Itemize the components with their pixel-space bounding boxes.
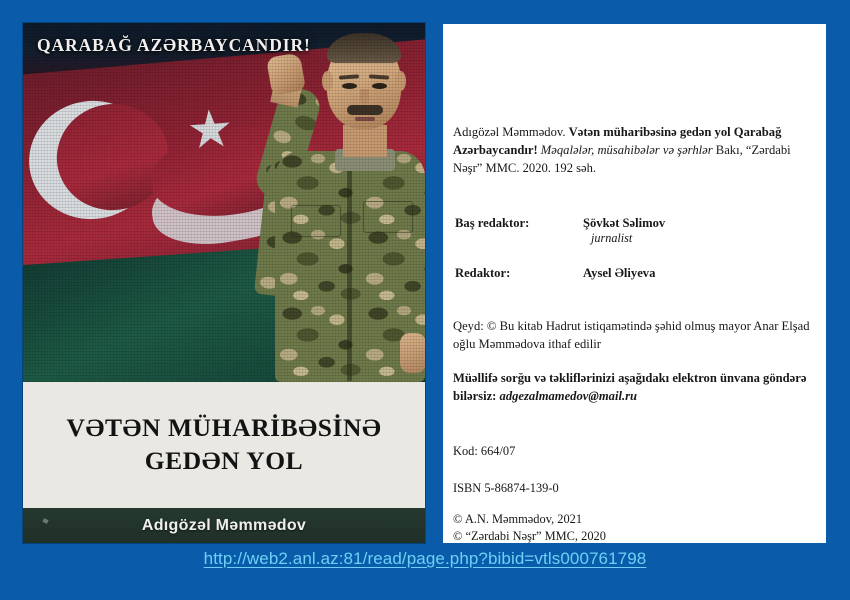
credit-sub-chief-editor: jurnalist <box>583 231 665 246</box>
source-url-link[interactable]: http://web2.anl.az:81/read/page.php?bibi… <box>0 549 850 569</box>
cover-title-line-2: GEDƏN YOL <box>145 445 304 478</box>
citation-subtitle: Məqalələr, müsahibələr və şərhlər <box>541 143 713 157</box>
citation-author: Adıgözəl Məmmədov. <box>453 125 566 139</box>
cover-headline: QARABAĞ AZƏRBAYCANDIR! <box>37 35 411 56</box>
imprint-page-scan[interactable]: Adıgözəl Məmmədov. Vətən müharibəsinə ge… <box>443 24 826 543</box>
copyright-line-publisher: © “Zərdabi Nəşr” MMC, 2020 <box>453 528 773 543</box>
credit-value-chief-editor: Şövkət Səlimov <box>583 216 665 231</box>
credit-value-group-chief-editor: Şövkət Səlimov jurnalist <box>583 216 665 246</box>
dedication-note: Qeyd: © Bu kitab Hadrut istiqamətində şə… <box>453 317 819 354</box>
screen-pixel-texture <box>23 23 425 382</box>
credit-value-group-editor: Aysel Əliyeva <box>583 266 655 281</box>
cover-title-line-1: VƏTƏN MÜHARİBƏSİNƏ <box>67 412 382 445</box>
codes-block: Kod: 664/07 ISBN 5-86874-139-0 <box>453 444 753 518</box>
book-cover-image[interactable]: QARABAĞ AZƏRBAYCANDIR! VƏTƏN MÜHARİBƏSİN… <box>23 23 425 543</box>
contact-block: Müəllifə sorğu və təkliflərinizi aşağıda… <box>453 369 819 406</box>
imprint-page-content: Adıgözəl Məmmədov. Vətən müharibəsinə ge… <box>453 24 818 543</box>
code-isbn: ISBN 5-86874-139-0 <box>453 481 753 496</box>
credit-row-editor: Redaktor: Aysel Əliyeva <box>455 266 795 281</box>
cover-speck <box>42 518 48 524</box>
cover-title-band: VƏTƏN MÜHARİBƏSİNƏ GEDƏN YOL <box>23 382 425 508</box>
cover-author-name: Adıgözəl Məmmədov <box>142 517 306 535</box>
copyright-line-author: © A.N. Məmmədov, 2021 <box>453 511 773 528</box>
copyright-block: © A.N. Məmmədov, 2021 © “Zərdabi Nəşr” M… <box>453 511 773 543</box>
credit-row-chief-editor: Baş redaktor: Şövkət Səlimov jurnalist <box>455 216 795 246</box>
contact-email[interactable]: adgezalmamedov@mail.ru <box>500 389 637 403</box>
credit-value-editor: Aysel Əliyeva <box>583 266 655 281</box>
cover-photograph: QARABAĞ AZƏRBAYCANDIR! <box>23 23 425 382</box>
code-kod: Kod: 664/07 <box>453 444 753 459</box>
cover-author-band: Adıgözəl Məmmədov <box>23 508 425 543</box>
credit-label-chief-editor: Baş redaktor: <box>455 216 583 231</box>
credit-label-editor: Redaktor: <box>455 266 583 281</box>
credits-spacer <box>455 250 795 266</box>
credits-block: Baş redaktor: Şövkət Səlimov jurnalist R… <box>455 216 795 285</box>
bibliographic-citation: Adıgözəl Məmmədov. Vətən müharibəsinə ge… <box>453 124 813 178</box>
slide-canvas: QARABAĞ AZƏRBAYCANDIR! VƏTƏN MÜHARİBƏSİN… <box>0 0 850 600</box>
citation-title-1: Vətən müharibəsinə gedən yol <box>569 125 731 139</box>
